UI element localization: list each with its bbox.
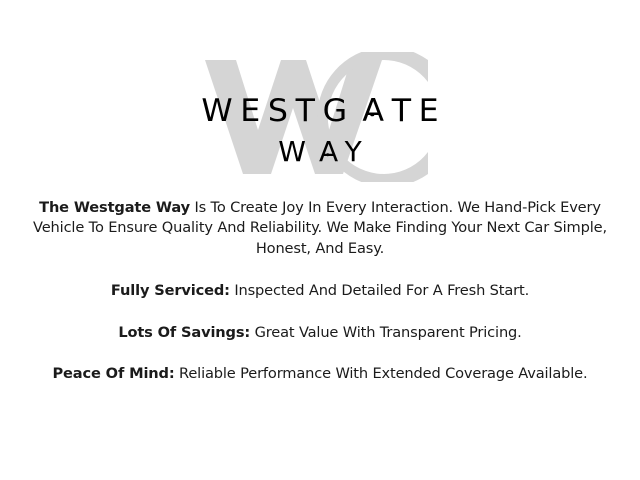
feature-lots-of-savings: Lots Of Savings: Great Value With Transp… xyxy=(18,323,622,343)
feature-lead: Lots Of Savings: xyxy=(118,324,250,341)
wordmark: WESTGATE WAY xyxy=(0,52,640,182)
feature-peace-of-mind: Peace Of Mind: Reliable Performance With… xyxy=(18,364,622,384)
feature-lead: Fully Serviced: xyxy=(111,282,230,299)
feature-fully-serviced: Fully Serviced: Inspected And Detailed F… xyxy=(18,281,622,301)
brand-logo: WESTGATE WAY xyxy=(0,52,640,182)
value-proposition-copy: The Westgate Way Is To Create Joy In Eve… xyxy=(18,198,622,384)
feature-lead: Peace Of Mind: xyxy=(53,365,175,382)
wordmark-secondary: WAY xyxy=(0,138,640,166)
feature-body: Reliable Performance With Extended Cover… xyxy=(175,365,588,382)
intro-lead: The Westgate Way xyxy=(39,199,190,216)
intro-paragraph: The Westgate Way Is To Create Joy In Eve… xyxy=(18,198,622,259)
page-root: WESTGATE WAY The Westgate Way Is To Crea… xyxy=(0,0,640,480)
feature-body: Great Value With Transparent Pricing. xyxy=(250,324,522,341)
wordmark-primary: WESTGATE xyxy=(0,96,640,127)
feature-body: Inspected And Detailed For A Fresh Start… xyxy=(230,282,529,299)
